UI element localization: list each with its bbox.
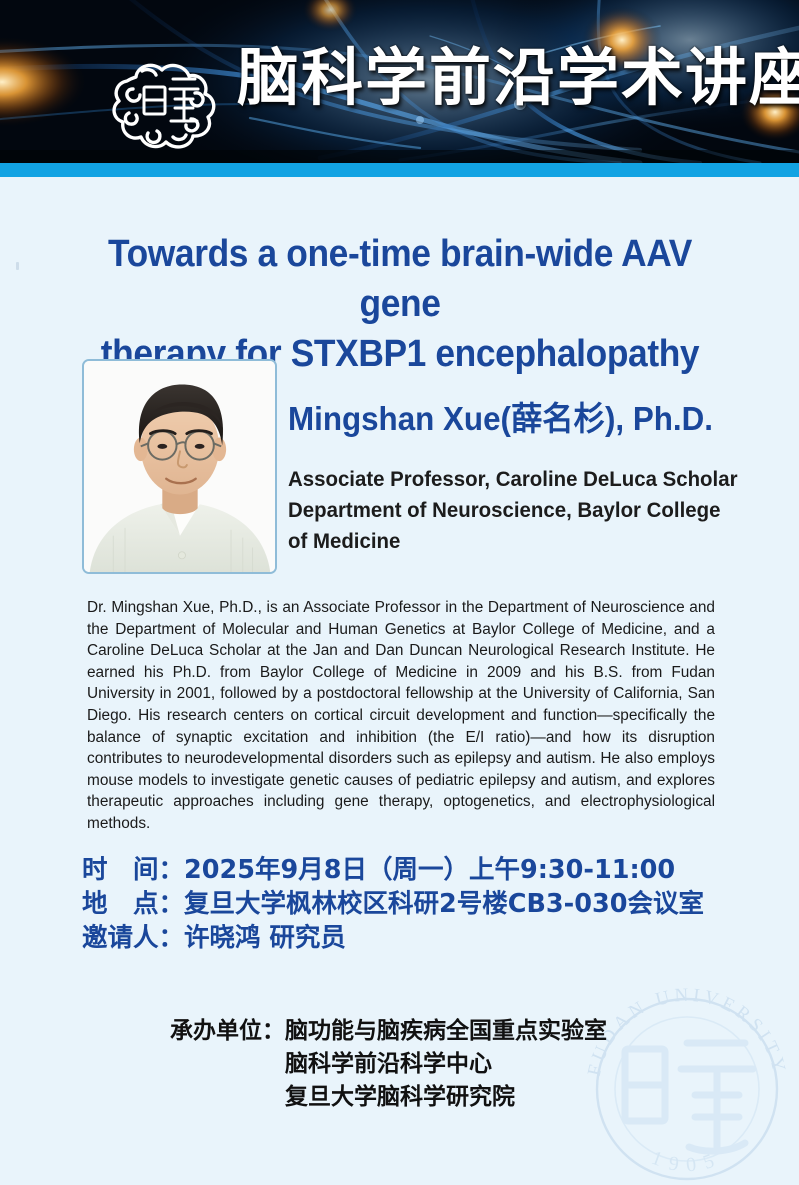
speaker-portrait-image <box>84 361 275 572</box>
talk-title-line-1: Towards a one-time brain-wide AAV gene <box>88 229 713 329</box>
organizer-line-3: 复旦大学脑科学研究院 <box>170 1081 607 1114</box>
speaker-photo <box>82 359 277 574</box>
poster-body: FUDAN UNIVERSITY 1905 Towards a one-time… <box>0 177 799 1185</box>
speaker-biography: Dr. Mingshan Xue, Ph.D., is an Associate… <box>87 597 715 835</box>
lecture-poster: 脑科学前沿学术讲座 FUDAN UNIVERSITY 1905 <box>0 0 799 1185</box>
poster-header: 脑科学前沿学术讲座 <box>0 0 799 163</box>
speaker-affiliation-line-1: Associate Professor, Caroline DeLuca Sch… <box>288 464 698 495</box>
seal-outer-text: FUDAN UNIVERSITY <box>584 985 790 1078</box>
speaker-name: Mingshan Xue(薛名杉), Ph.D. <box>288 399 713 439</box>
header-accent-bar <box>0 163 799 177</box>
event-location: 地 点：复旦大学枫林校区科研2号楼CB3-030会议室 <box>82 887 704 921</box>
event-details: 时 间：2025年9月8日（周一）上午9:30-11:00 地 点：复旦大学枫林… <box>82 853 704 955</box>
speaker-affiliation-line-3: of Medicine <box>288 526 698 557</box>
organizer-line-2: 脑科学前沿科学中心 <box>170 1048 607 1081</box>
organizer-line-1: 承办单位：脑功能与脑疾病全国重点实验室 <box>170 1015 607 1048</box>
organizers: 承办单位：脑功能与脑疾病全国重点实验室 脑科学前沿科学中心 复旦大学脑科学研究院 <box>170 1015 607 1114</box>
talk-title: Towards a one-time brain-wide AAV gene t… <box>88 229 713 379</box>
speaker-affiliation-line-2: Department of Neuroscience, Baylor Colle… <box>288 495 698 526</box>
event-time: 时 间：2025年9月8日（周一）上午9:30-11:00 <box>82 853 704 887</box>
page-artifact-mark <box>16 262 19 270</box>
lecture-series-title: 脑科学前沿学术讲座 <box>237 47 799 109</box>
fudan-brain-logo-icon <box>103 37 227 161</box>
speaker-affiliation: Associate Professor, Caroline DeLuca Sch… <box>288 464 698 557</box>
event-host: 邀请人：许晓鸿 研究员 <box>82 921 704 955</box>
seal-year-text: 1905 <box>648 1147 725 1177</box>
